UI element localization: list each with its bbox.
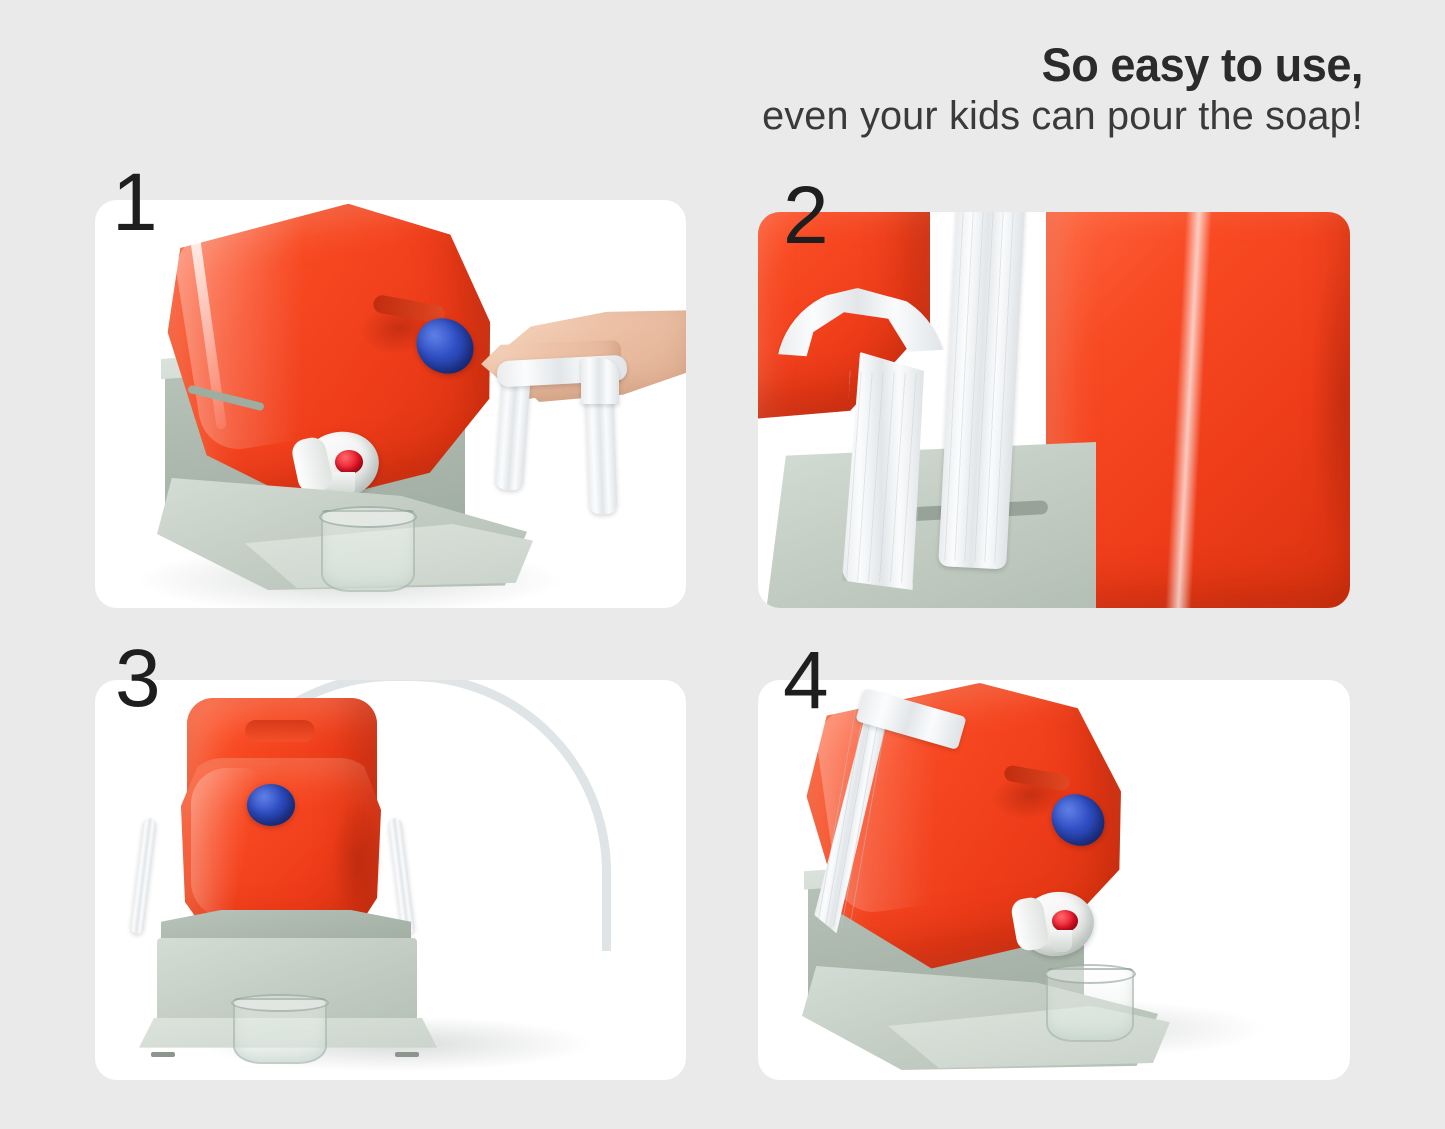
heading-block: So easy to use, even your kids can pour … bbox=[463, 40, 1363, 139]
step-4-illustration bbox=[758, 680, 1350, 1080]
page-subtitle: even your kids can pour the soap! bbox=[472, 94, 1363, 139]
step-1-illustration bbox=[95, 200, 686, 608]
step-number-3: 3 bbox=[115, 638, 161, 720]
jug-rear-groove bbox=[245, 720, 315, 742]
page-title: So easy to use, bbox=[499, 40, 1363, 90]
step-2-illustration bbox=[758, 212, 1350, 608]
measuring-cup-rim bbox=[1044, 964, 1136, 984]
step-3-panel bbox=[95, 680, 686, 1080]
step-number-2: 2 bbox=[783, 175, 829, 257]
spigot-nozzle bbox=[1050, 930, 1072, 952]
step-number-1: 1 bbox=[112, 162, 158, 244]
step-4-panel bbox=[758, 680, 1350, 1080]
step-1-panel bbox=[95, 200, 686, 608]
spigot-push-button bbox=[1052, 910, 1078, 932]
step-3-illustration bbox=[95, 680, 686, 1080]
dispenser-stand-foot-right bbox=[395, 1052, 419, 1057]
strap-tail-ribs bbox=[842, 371, 923, 583]
dispenser-stand-foot-left bbox=[151, 1052, 175, 1057]
step-2-panel bbox=[758, 212, 1350, 608]
infographic-canvas: So easy to use, even your kids can pour … bbox=[0, 0, 1445, 1129]
measuring-cup-rim bbox=[319, 506, 417, 528]
spigot-push-button bbox=[335, 450, 363, 474]
measuring-cup-rim bbox=[231, 994, 329, 1012]
strap-left-tail bbox=[130, 818, 157, 935]
u-shaped-strap-bend bbox=[581, 358, 619, 404]
step-number-4: 4 bbox=[783, 640, 829, 722]
dispenser-stand-closeup bbox=[766, 442, 1096, 608]
jug-cap-blue bbox=[247, 784, 295, 826]
